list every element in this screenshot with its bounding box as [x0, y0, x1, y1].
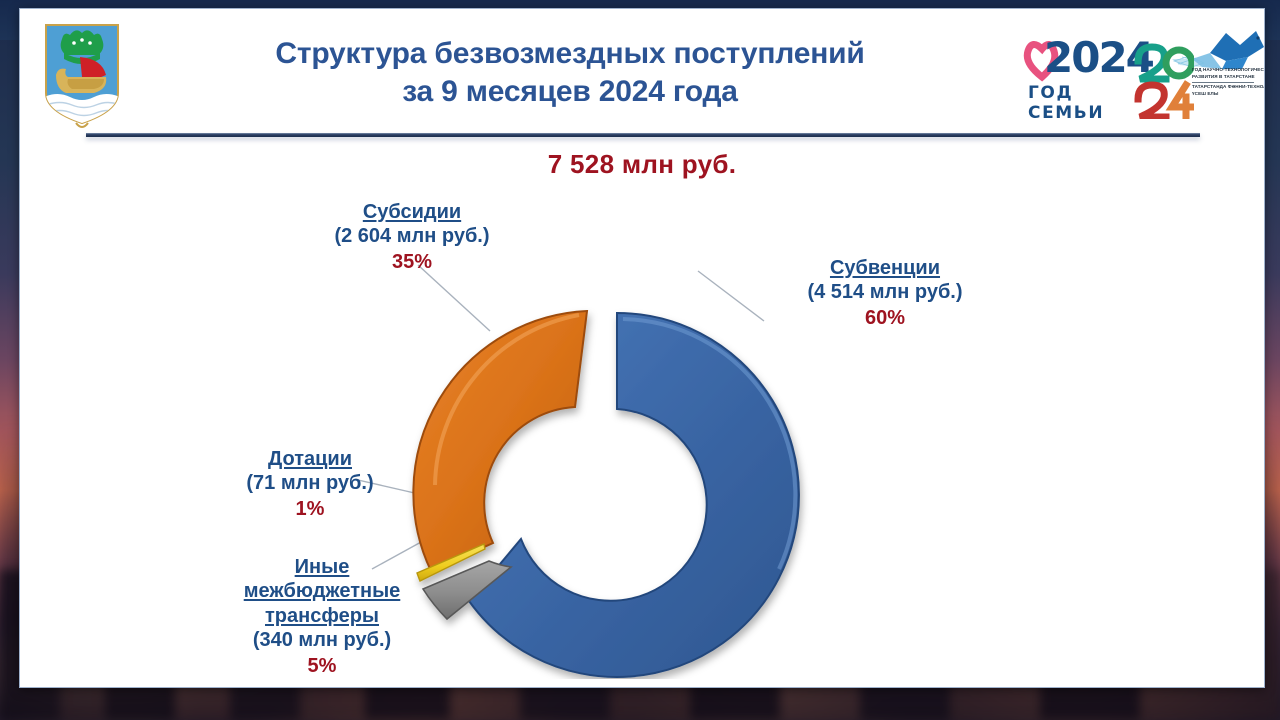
page-title-line1: Структура безвозмездных поступлений — [170, 35, 970, 73]
label-amount-dotatsii: (71 млн руб.) — [210, 471, 410, 495]
year-of-family-caption: ГОД СЕМЬИ — [1028, 83, 1134, 123]
label-name-subsidii: Субсидии — [292, 200, 532, 224]
label-percent-subsidii: 35% — [292, 250, 532, 274]
label-name-inye-line2: межбюджетные — [202, 579, 442, 603]
label-name-subventsii: Субвенции — [760, 256, 1010, 280]
label-name-inye-line3: трансферы — [202, 604, 442, 628]
year-of-family-logo: 2024 ГОД СЕМЬИ — [1022, 31, 1134, 119]
tech-caption-line2: РАЗВИТИЯ В ТАТАРСТАНЕ — [1192, 74, 1254, 81]
tech-caption-divider — [1192, 82, 1254, 83]
coat-of-arms-icon — [36, 19, 128, 137]
slide-card: Структура безвозмездных поступлений за 9… — [19, 8, 1265, 688]
label-percent-subventsii: 60% — [760, 306, 1010, 330]
total-amount: 7 528 млн руб. — [20, 149, 1264, 180]
year-of-science-tech-logo: ГОД НАУЧНО-ТЕХНОЛОГИЧЕСКОГО РАЗВИТИЯ В Т… — [1134, 23, 1252, 127]
label-percent-dotatsii: 1% — [210, 497, 410, 521]
callout-label-subventsii: Субвенции (4 514 млн руб.) 60% — [760, 256, 1010, 330]
logo-group: 2024 ГОД СЕМЬИ — [1022, 23, 1252, 127]
callout-label-dotatsii: Дотации (71 млн руб.) 1% — [210, 447, 410, 521]
page-title: Структура безвозмездных поступлений за 9… — [170, 35, 970, 112]
label-amount-subventsii: (4 514 млн руб.) — [760, 280, 1010, 304]
label-amount-inye: (340 млн руб.) — [202, 628, 442, 652]
label-name-dotatsii: Дотации — [210, 447, 410, 471]
callout-label-inye-transfery: Иные межбюджетные трансферы (340 млн руб… — [202, 555, 442, 678]
label-percent-inye: 5% — [202, 654, 442, 678]
label-name-inye-line1: Иные — [202, 555, 442, 579]
tech-caption-line4: ҮСЕШ ЕЛЫ — [1192, 91, 1254, 98]
callout-label-subsidii: Субсидии (2 604 млн руб.) 35% — [292, 200, 532, 274]
year-of-science-tech-caption: ГОД НАУЧНО-ТЕХНОЛОГИЧЕСКОГО РАЗВИТИЯ В Т… — [1192, 67, 1254, 98]
page-title-line2: за 9 месяцев 2024 года — [170, 73, 970, 111]
year-of-science-tech-year — [1134, 43, 1194, 119]
label-amount-subsidii: (2 604 млн руб.) — [292, 224, 532, 248]
tech-caption-line1: ГОД НАУЧНО-ТЕХНОЛОГИЧЕСКОГО — [1192, 67, 1254, 74]
title-divider — [86, 133, 1200, 137]
tech-caption-line3: ТАТАРСТАНДА ФӘННИ-ТЕХНОЛОГИК — [1192, 84, 1254, 91]
